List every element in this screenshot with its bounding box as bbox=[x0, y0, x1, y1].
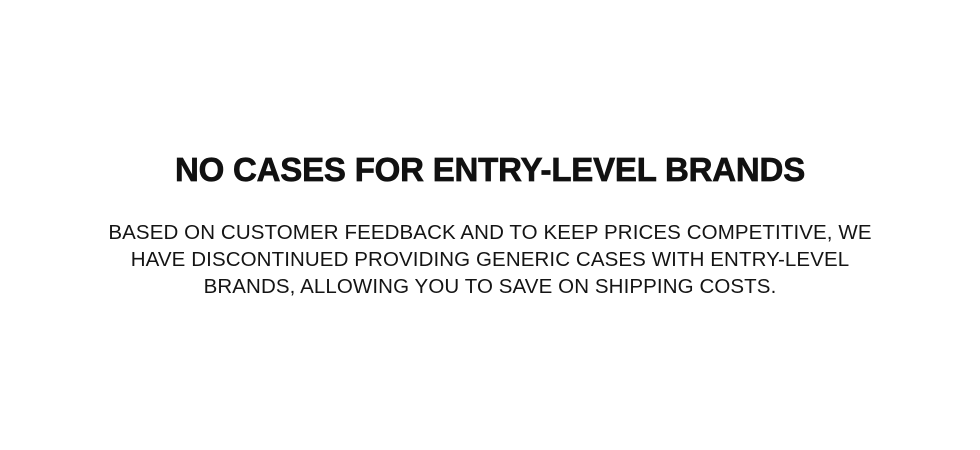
promo-body-text: BASED ON CUSTOMER FEEDBACK AND TO KEEP P… bbox=[90, 190, 890, 300]
promo-heading: NO CASES FOR ENTRY-LEVEL BRANDS bbox=[40, 150, 940, 190]
promo-banner: NO CASES FOR ENTRY-LEVEL BRANDS BASED ON… bbox=[0, 0, 980, 450]
promo-content-block: NO CASES FOR ENTRY-LEVEL BRANDS BASED ON… bbox=[40, 150, 940, 300]
